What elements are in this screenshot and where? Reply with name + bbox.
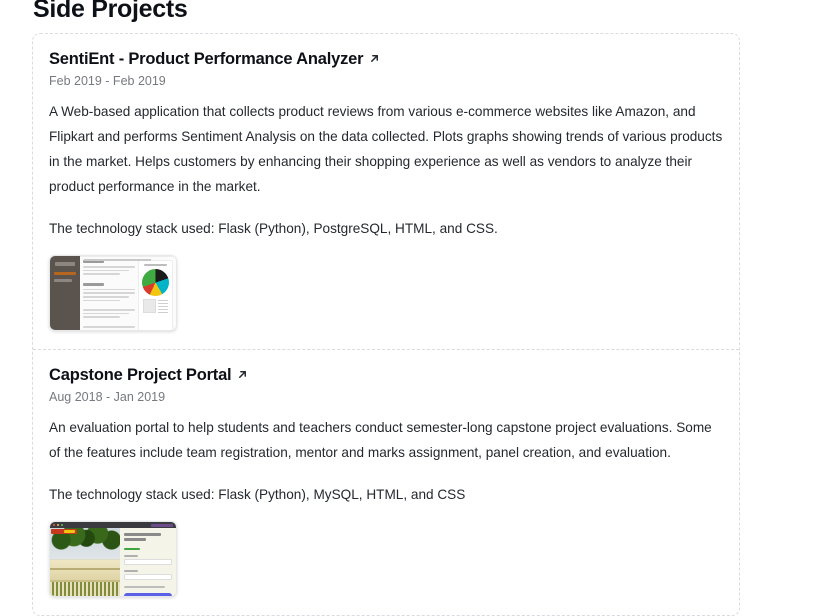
thumb-article-heading [83, 283, 104, 286]
thumb-browser-tab [151, 524, 173, 527]
thumb-sidebar [50, 256, 80, 330]
thumb-form-title [124, 533, 162, 536]
project-dates: Feb 2019 - Feb 2019 [49, 73, 723, 90]
thumb-legend-swatch [143, 299, 156, 313]
thumb-sidebar-logo [55, 262, 75, 266]
thumb-article-column [83, 260, 135, 331]
project-tech-stack: The technology stack used: Flask (Python… [49, 482, 723, 507]
thumb-building [50, 560, 120, 582]
thumb-spacer [83, 277, 135, 281]
project-description: A Web-based application that collects pr… [49, 99, 723, 199]
thumb-sidebar-nav-item [54, 279, 72, 282]
thumb-main [80, 256, 176, 330]
thumb-campus-photo [50, 528, 120, 597]
thumb-field-label [124, 570, 138, 572]
external-link-arrow-icon[interactable] [369, 53, 380, 64]
project-card-sentient[interactable]: SentiEnt - Product Performance Analyzer … [33, 34, 739, 349]
project-header: SentiEnt - Product Performance Analyzer [49, 48, 723, 70]
thumb-chart-legend [143, 299, 167, 313]
thumb-primary-button [124, 593, 172, 597]
thumb-window-min-dot [57, 524, 59, 526]
projects-list: SentiEnt - Product Performance Analyzer … [32, 33, 740, 616]
thumb-spacer [83, 303, 135, 307]
login-portal-screenshot [50, 522, 176, 596]
project-card-capstone[interactable]: Capstone Project Portal Aug 2018 - Jan 2… [33, 349, 739, 615]
thumb-text-line [83, 292, 135, 294]
thumb-body [80, 257, 176, 331]
project-title[interactable]: Capstone Project Portal [49, 364, 231, 386]
thumb-text-line [83, 273, 120, 275]
thumb-pie-chart [142, 269, 169, 296]
project-thumbnail-dashboard[interactable] [49, 255, 177, 331]
thumb-text-line [83, 300, 120, 302]
thumb-text-line [83, 289, 135, 291]
thumb-text-line [83, 309, 135, 311]
project-thumbnail-login-portal[interactable] [49, 521, 177, 597]
thumb-brand-logo [51, 529, 77, 534]
thumb-legend-labels [158, 299, 167, 313]
thumb-text-line [83, 270, 129, 272]
thumb-window-close-dot [53, 524, 55, 526]
dashboard-screenshot [50, 256, 176, 330]
project-description: An evaluation portal to help students an… [49, 415, 723, 465]
thumb-chart-title [144, 264, 167, 266]
thumb-input-field [124, 559, 172, 565]
side-projects-page: Side Projects SentiEnt - Product Perform… [0, 0, 824, 577]
thumb-form-section-label [124, 548, 140, 550]
thumb-text-line [83, 296, 129, 298]
thumb-building-columns [50, 582, 120, 597]
project-tech-stack: The technology stack used: Flask (Python… [49, 216, 723, 241]
thumb-topbar [80, 256, 176, 257]
thumb-field-label [124, 555, 138, 557]
thumb-text-line [83, 316, 120, 318]
thumb-spacer [83, 320, 135, 324]
thumb-chart-panel [138, 260, 173, 331]
project-header: Capstone Project Portal [49, 364, 723, 386]
project-title[interactable]: SentiEnt - Product Performance Analyzer [49, 48, 363, 70]
external-link-arrow-icon[interactable] [237, 369, 248, 380]
thumb-text-line [83, 266, 135, 268]
thumb-helper-text [124, 586, 165, 588]
thumb-text-line [83, 313, 129, 315]
thumb-sidebar-nav-active [54, 272, 76, 275]
thumb-text-line [83, 330, 129, 331]
thumb-window-max-dot [61, 524, 63, 526]
thumb-login-layout [50, 528, 176, 597]
project-dates: Aug 2018 - Jan 2019 [49, 389, 723, 406]
thumb-login-form [120, 528, 176, 597]
thumb-text-line [83, 326, 135, 328]
page-title: Side Projects [33, 0, 188, 26]
thumb-form-subtitle [124, 538, 146, 541]
thumb-input-field [124, 574, 172, 580]
